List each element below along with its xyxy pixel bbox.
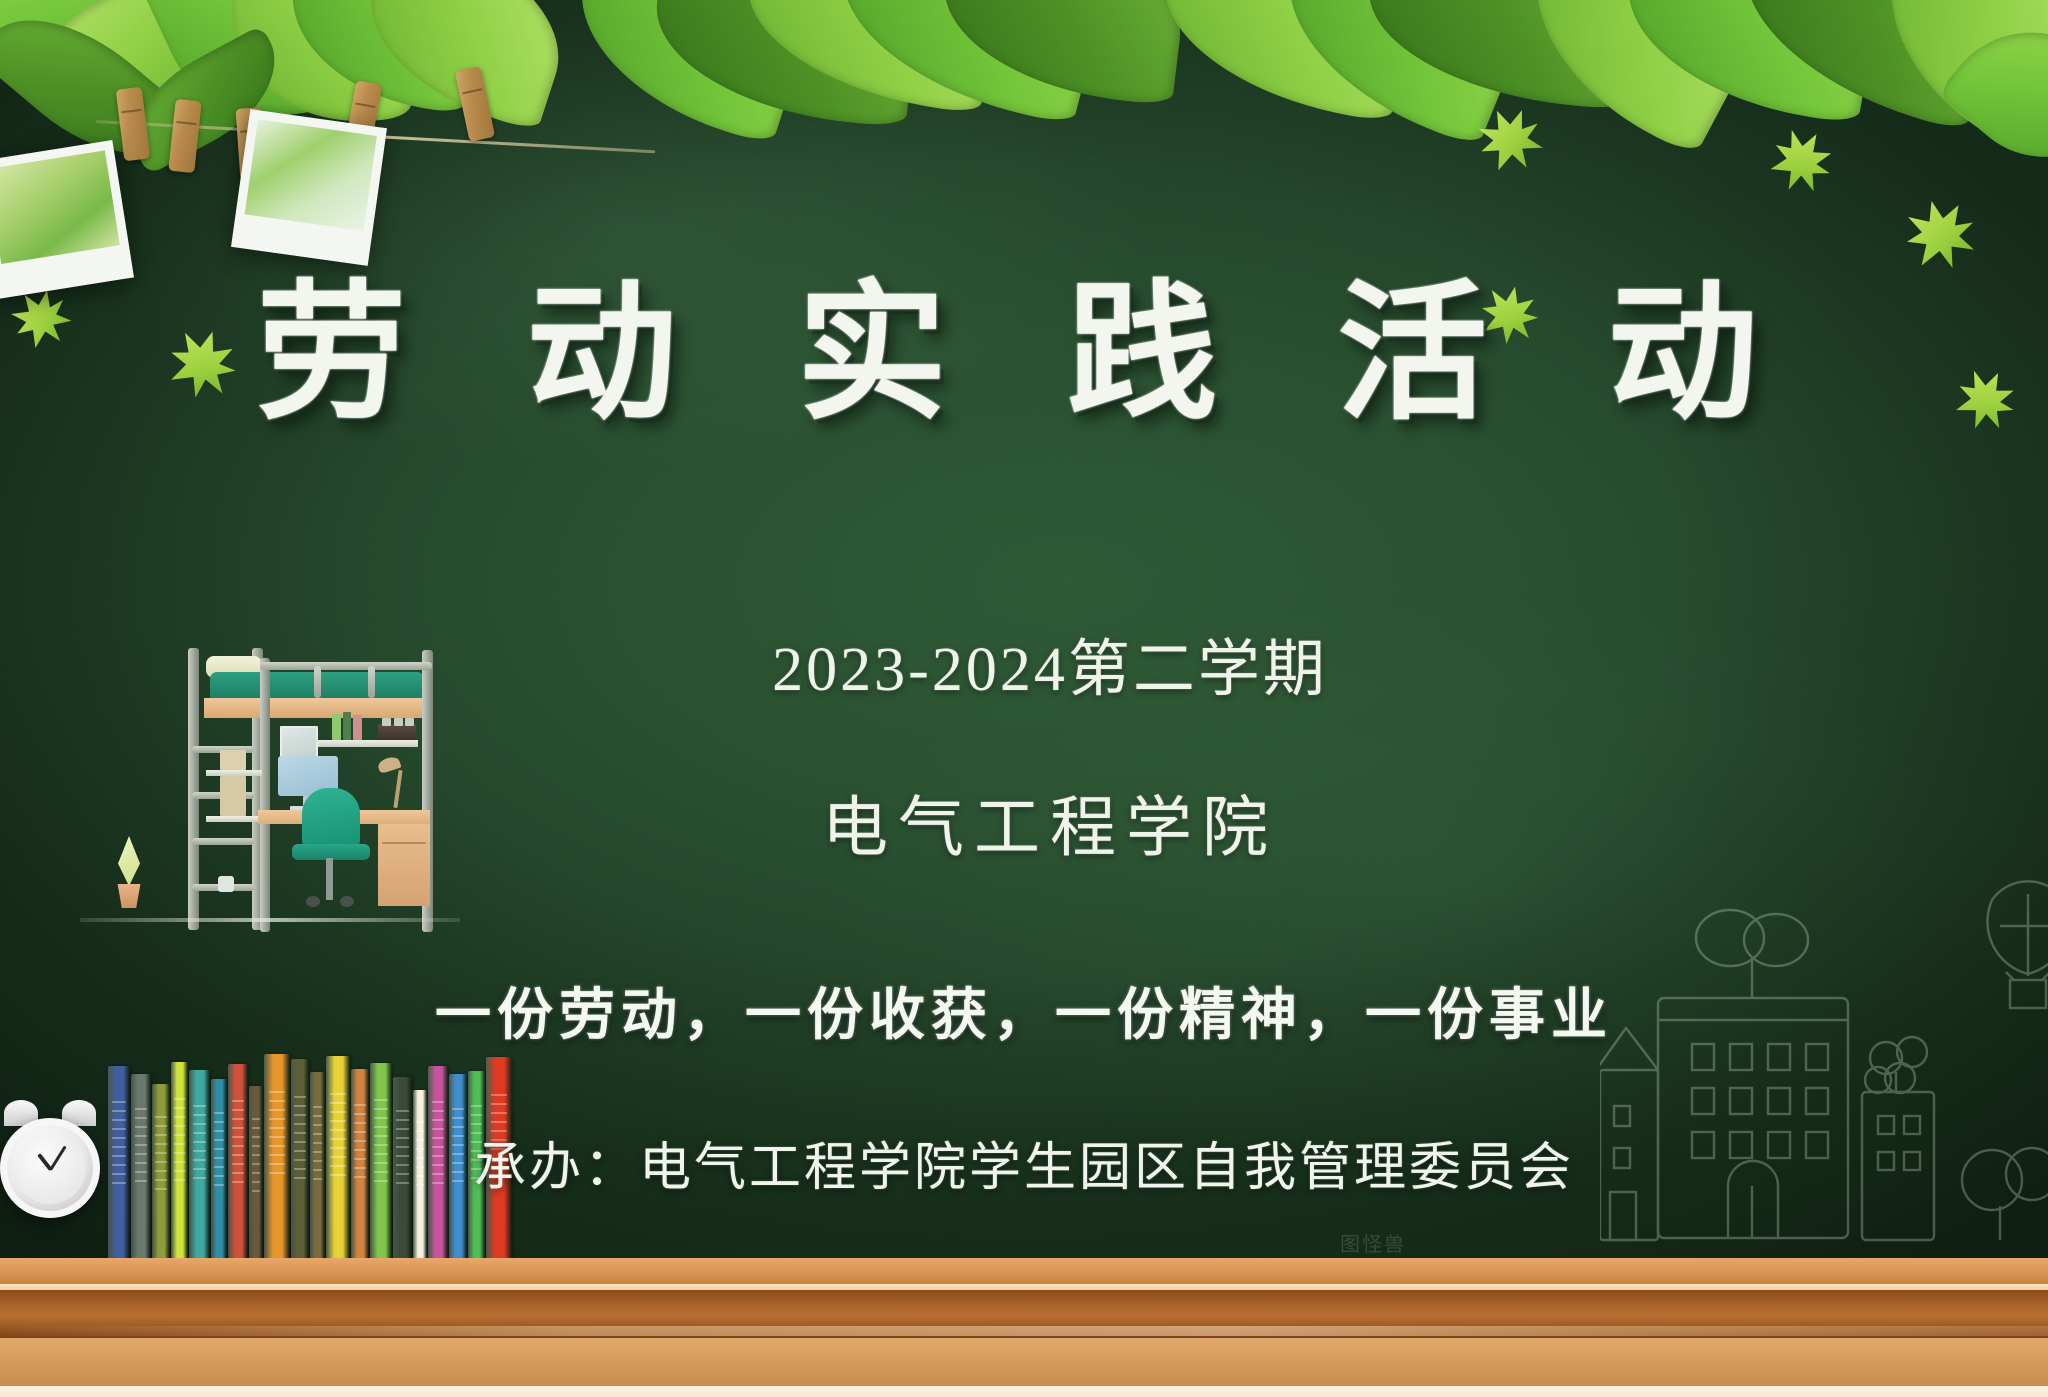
shelf-book xyxy=(332,714,341,740)
term-label: 2023-2024第二学期 xyxy=(400,618,1700,708)
shelf-book xyxy=(343,712,351,740)
shelf-box xyxy=(382,718,391,726)
storage-box xyxy=(220,776,246,816)
bed-frame-post xyxy=(260,658,270,932)
page-title: 劳 动 实 践 活 动 xyxy=(0,232,2048,449)
poster-canvas: 劳 动 实 践 活 动 2023-2024第二学期 电气工程学院 一份劳动，一份… xyxy=(0,0,2048,1397)
chair-stem xyxy=(326,858,333,900)
inner-shelf xyxy=(206,816,262,822)
potted-plant-leaf xyxy=(118,836,140,886)
bed-guard-rail xyxy=(368,666,375,698)
wooden-ledge xyxy=(0,1258,2048,1397)
ledge-dark-plank xyxy=(0,1290,2048,1338)
desk-chair-back xyxy=(302,788,360,850)
photo-image xyxy=(245,119,377,231)
college-label: 电气工程学院 xyxy=(400,774,1700,870)
ledge-front-plank xyxy=(0,1338,2048,1386)
organizer-text: 承办：电气工程学院学生园区自我管理委员会 xyxy=(0,1125,2048,1200)
wall-outlet xyxy=(218,876,234,892)
bed-guard-rail xyxy=(314,666,321,698)
floor-line xyxy=(80,918,460,922)
ledge-bottom-edge xyxy=(0,1386,2048,1397)
dormitory-loft-bed-illustration xyxy=(110,630,440,930)
chalk-campus-drawing xyxy=(1600,880,2048,1270)
subtitle-block: 2023-2024第二学期 电气工程学院 xyxy=(400,618,1700,870)
chair-wheel xyxy=(306,896,320,907)
bed-board xyxy=(204,698,426,718)
ledge-top-plank xyxy=(0,1258,2048,1284)
ladder-rung xyxy=(192,838,254,845)
watermark-text: 图怪兽 xyxy=(1340,1228,1406,1257)
storage-box xyxy=(220,750,246,770)
ledge-shine xyxy=(0,1326,2048,1336)
slogan-text: 一份劳动，一份收获，一份精神，一份事业 xyxy=(0,970,2048,1051)
shelf-book xyxy=(353,715,362,740)
chair-wheel xyxy=(340,896,354,907)
flower-pot xyxy=(114,884,144,908)
